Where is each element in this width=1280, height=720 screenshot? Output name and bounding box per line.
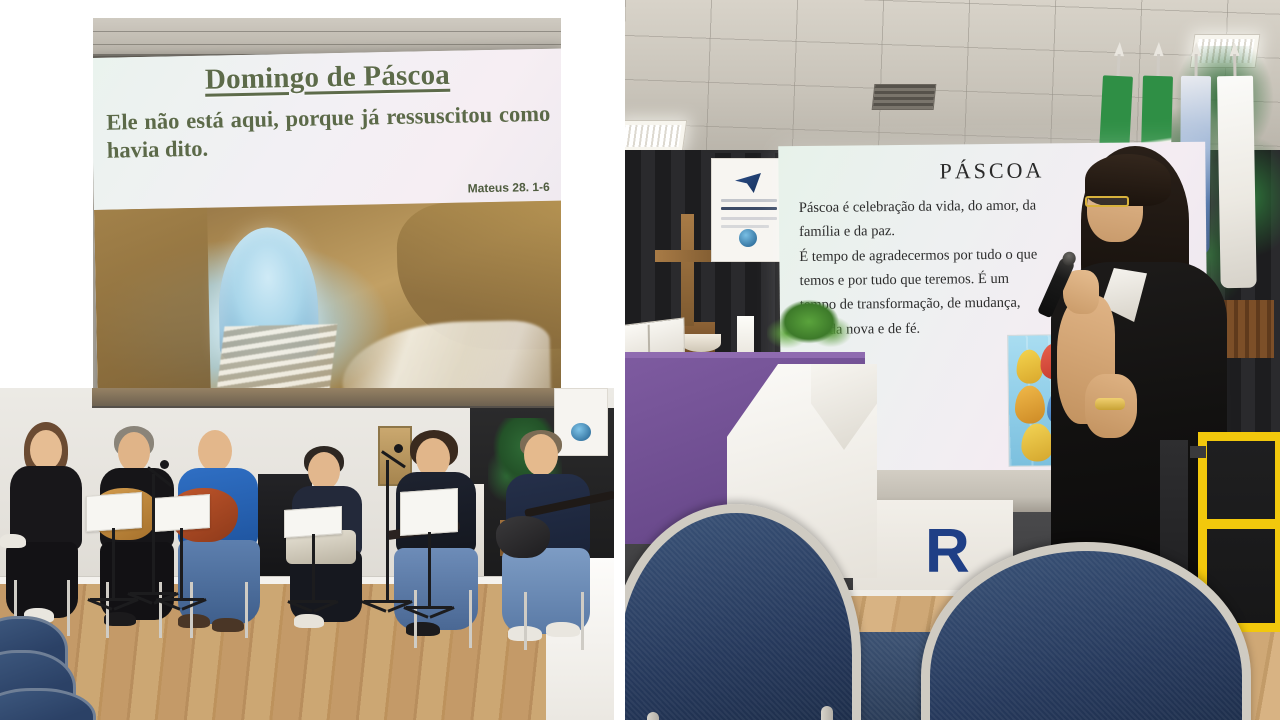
band-member-bassist bbox=[502, 430, 612, 650]
banner-logo-icon bbox=[735, 173, 761, 193]
banner-text-line bbox=[721, 225, 769, 228]
ceiling-air-vent bbox=[872, 84, 937, 110]
flag-pole bbox=[1194, 54, 1197, 78]
band-member-guitarist-curly-hair bbox=[396, 430, 500, 646]
music-stand-legs bbox=[290, 600, 336, 603]
rail-hinge bbox=[1190, 446, 1206, 458]
slide-title: Domingo de Páscoa bbox=[105, 57, 550, 99]
band-member-singer-woman bbox=[8, 422, 94, 632]
microphone-stand-legs bbox=[130, 592, 176, 595]
shoe bbox=[294, 614, 324, 628]
banner-text-line bbox=[721, 199, 777, 202]
slide-verse: Ele não está aqui, porque já ressuscitou… bbox=[106, 100, 551, 166]
stool bbox=[524, 592, 584, 650]
microphone-stand-pole bbox=[386, 460, 389, 602]
head bbox=[524, 434, 558, 476]
white-bowl bbox=[681, 334, 721, 352]
head bbox=[118, 432, 150, 472]
wall-letter-sign: R bbox=[925, 516, 974, 587]
music-stand-legs bbox=[406, 606, 452, 609]
stool bbox=[414, 590, 472, 648]
chair-leg bbox=[647, 712, 659, 720]
photo-collage: Domingo de Páscoa Ele não está aqui, por… bbox=[0, 0, 1280, 720]
wooden-cross-vertical bbox=[681, 214, 694, 326]
banner-text-line bbox=[721, 217, 777, 220]
slide-scripture-reference: Mateus 28. 1-6 bbox=[468, 180, 550, 196]
projection-screen-bottom-edge bbox=[92, 388, 562, 408]
room-background-b bbox=[0, 388, 614, 720]
wristwatch bbox=[1095, 398, 1125, 410]
head bbox=[198, 430, 232, 472]
photo-worship-band bbox=[0, 388, 614, 720]
banner-globe-icon bbox=[739, 229, 757, 247]
head bbox=[308, 452, 340, 490]
altar-plant bbox=[767, 296, 851, 360]
microphone-head bbox=[394, 444, 403, 453]
music-sheet bbox=[154, 494, 210, 532]
bass-guitar-body bbox=[496, 516, 550, 558]
head bbox=[30, 430, 62, 470]
microphone-stand-pole bbox=[152, 474, 155, 594]
shoe-left bbox=[0, 534, 26, 548]
microphone-stand-legs bbox=[364, 600, 410, 603]
flag-pole bbox=[1233, 54, 1236, 78]
room-background-c: PÁSCOA Páscoa é celebração da vida, do a… bbox=[625, 0, 1280, 720]
music-stand-pole bbox=[180, 528, 183, 600]
music-sheet bbox=[86, 492, 142, 532]
photo-slide-easter-sunday: Domingo de Páscoa Ele não está aqui, por… bbox=[93, 18, 561, 420]
glasses-icon bbox=[1085, 196, 1129, 207]
music-stand-pole bbox=[112, 528, 115, 600]
music-stand-legs bbox=[90, 598, 136, 601]
projection-screen-easter-sunday: Domingo de Páscoa Ele não está aqui, por… bbox=[93, 49, 561, 420]
music-stand-pole bbox=[312, 534, 315, 602]
slide-text-area: Domingo de Páscoa Ele não está aqui, por… bbox=[93, 49, 561, 210]
flag-pole bbox=[1156, 54, 1160, 78]
banner-text-line bbox=[721, 207, 777, 210]
chair-leg bbox=[821, 706, 833, 720]
institutional-banner bbox=[711, 158, 785, 262]
room-background-a: Domingo de Páscoa Ele não está aqui, por… bbox=[93, 18, 561, 420]
microphone-head bbox=[160, 460, 169, 469]
photo-speaker-pascoa: PÁSCOA Páscoa é celebração da vida, do a… bbox=[625, 0, 1280, 720]
stool bbox=[190, 582, 248, 638]
music-stand-pole bbox=[428, 532, 431, 608]
ceiling-light bbox=[625, 120, 687, 152]
music-sheet bbox=[400, 488, 458, 536]
